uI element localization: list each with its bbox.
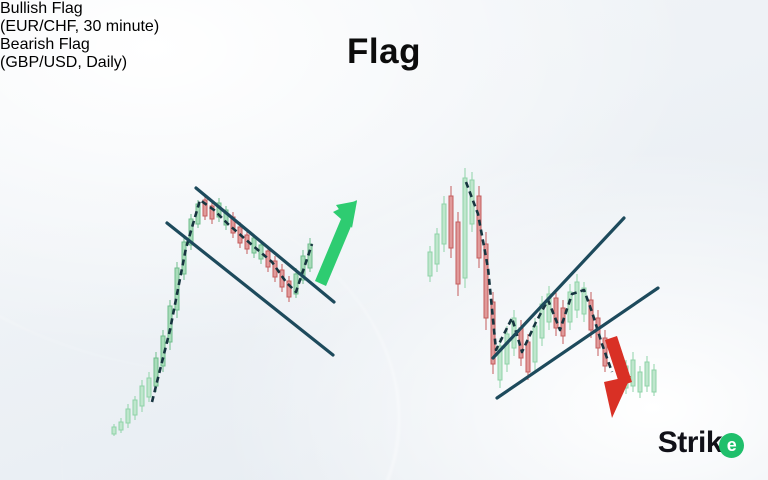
- logo-badge-e: e: [719, 433, 744, 458]
- bearish-flag-chart: [428, 168, 658, 418]
- strike-logo: Stri k e: [658, 426, 744, 460]
- logo-text-before: Stri: [658, 426, 706, 460]
- bearish-channel-upper: [493, 218, 624, 358]
- bullish-channel-upper: [196, 188, 334, 302]
- infographic-canvas: Flag Bullish Flag (EUR/CHF, 30 minute) B…: [0, 0, 768, 480]
- bearish-breakdown-arrow: [604, 336, 632, 418]
- bullish-breakout-arrow: [315, 200, 357, 286]
- flag-pattern-illustration: [0, 0, 768, 480]
- bullish-flag-chart: [112, 188, 357, 436]
